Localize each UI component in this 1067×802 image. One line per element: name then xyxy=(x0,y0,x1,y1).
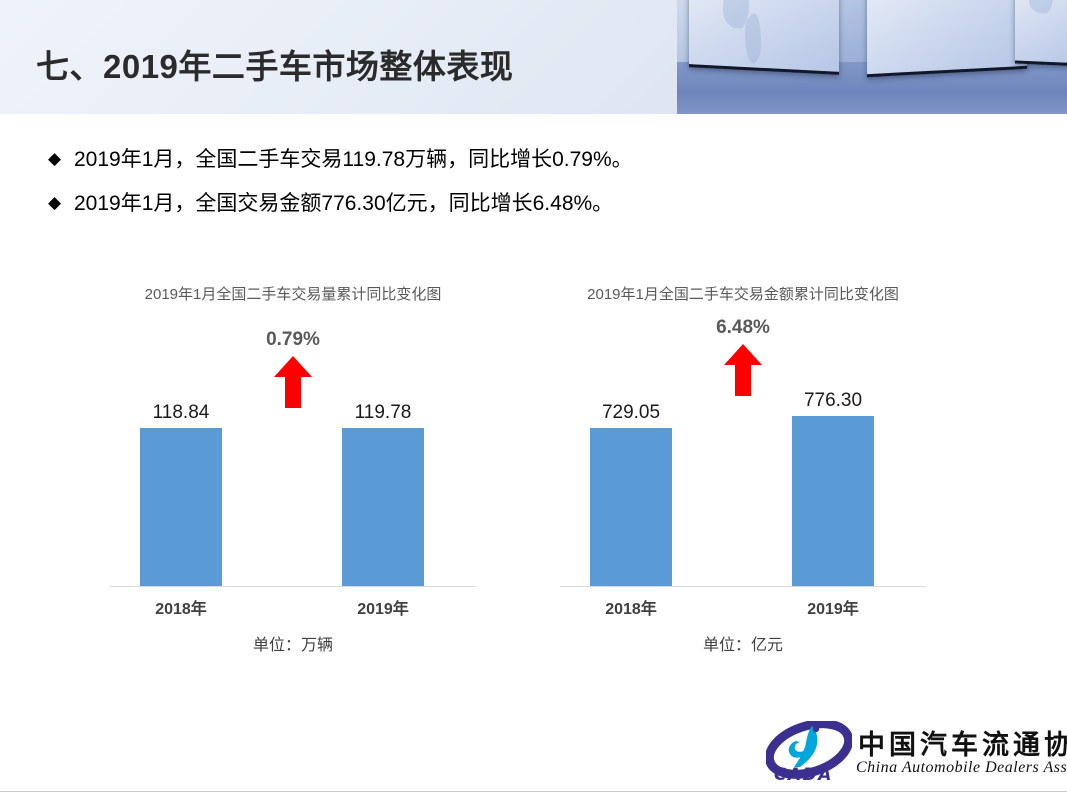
amount-chart: 2019年1月全国二手车交易金额累计同比变化图 729.05 776.30 6.… xyxy=(518,283,968,673)
growth-annotation: 6.48% xyxy=(693,318,793,396)
chart-title: 2019年1月全国二手车交易金额累计同比变化图 xyxy=(518,283,968,304)
bar-2018 xyxy=(590,428,672,586)
world-map-pattern xyxy=(867,0,1027,74)
footer-divider xyxy=(0,791,1067,792)
chart-unit-label: 单位：亿元 xyxy=(518,631,968,655)
header-decorative-cubes-image xyxy=(677,0,1067,114)
bar-2018 xyxy=(140,428,222,586)
chart-plot-area: 118.84 119.78 0.79% xyxy=(110,335,476,587)
bar-value-label: 118.84 xyxy=(121,402,241,424)
chart-unit-label: 单位：万辆 xyxy=(68,631,518,655)
cube-shape-3 xyxy=(1015,0,1067,67)
x-axis-line xyxy=(560,586,926,587)
chart-plot-area: 729.05 776.30 6.48% xyxy=(560,335,926,587)
logo-english-name: China Automobile Dealers Association xyxy=(856,759,1067,777)
list-item: ◆ 2019年1月，全国二手车交易119.78万辆，同比增长0.79%。 xyxy=(48,136,908,180)
x-tick-2019: 2019年 xyxy=(313,595,453,619)
diamond-bullet-icon: ◆ xyxy=(48,150,74,167)
arrow-up-icon xyxy=(274,356,312,408)
growth-percent-label: 0.79% xyxy=(243,330,343,349)
x-axis-tick-labels: 2018年 2019年 xyxy=(110,595,476,617)
x-tick-2018: 2018年 xyxy=(111,595,251,619)
bar-value-label: 729.05 xyxy=(571,402,691,424)
chart-title: 2019年1月全国二手车交易量累计同比变化图 xyxy=(68,283,518,304)
growth-annotation: 0.79% xyxy=(243,330,343,408)
cube-shape-1 xyxy=(689,0,839,75)
volume-chart: 2019年1月全国二手车交易量累计同比变化图 118.84 119.78 0.7… xyxy=(68,283,518,673)
growth-percent-label: 6.48% xyxy=(693,318,793,337)
list-item: ◆ 2019年1月，全国交易金额776.30亿元，同比增长6.48%。 xyxy=(48,180,908,224)
x-tick-2018: 2018年 xyxy=(561,595,701,619)
logo-abbreviation: CADA xyxy=(774,765,833,785)
bar-2019 xyxy=(342,428,424,586)
cube-shape-2 xyxy=(867,0,1027,77)
x-tick-2019: 2019年 xyxy=(763,595,903,619)
cada-logo: CADA 中国汽车流通协会 China Automobile Dealers A… xyxy=(766,719,1062,789)
world-map-pattern xyxy=(1015,0,1067,64)
diamond-bullet-icon: ◆ xyxy=(48,194,74,211)
arrow-up-icon xyxy=(724,344,762,396)
bullet-list: ◆ 2019年1月，全国二手车交易119.78万辆，同比增长0.79%。 ◆ 2… xyxy=(48,136,908,224)
world-map-pattern xyxy=(689,0,839,72)
x-axis-tick-labels: 2018年 2019年 xyxy=(560,595,926,617)
bullet-text: 2019年1月，全国二手车交易119.78万辆，同比增长0.79%。 xyxy=(74,143,633,173)
bullet-text: 2019年1月，全国交易金额776.30亿元，同比增长6.48%。 xyxy=(74,187,613,217)
page-title: 七、2019年二手车市场整体表现 xyxy=(36,40,513,88)
logo-chinese-name: 中国汽车流通协会 xyxy=(858,723,1067,762)
bar-2019 xyxy=(792,416,874,586)
x-axis-line xyxy=(110,586,476,587)
